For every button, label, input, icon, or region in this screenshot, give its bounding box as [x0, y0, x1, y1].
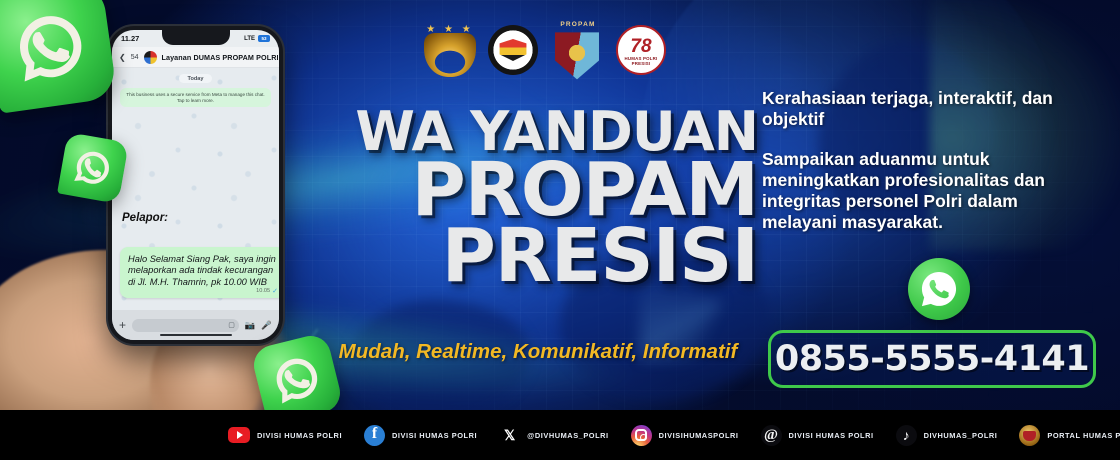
home-indicator	[160, 334, 232, 337]
business-notice[interactable]: This business uses a secure service from…	[120, 88, 271, 107]
right-copy-paragraph-2: Sampaikan aduanmu untuk meningkatkan pro…	[762, 149, 1092, 233]
propam-shield-emblem-icon: PROPAM	[552, 22, 604, 78]
social-label: @DIVHUMAS_POLRI	[527, 431, 609, 440]
whatsapp-3d-logo-small	[57, 132, 129, 204]
social-link-youtube[interactable]: DIVISI HUMAS POLRI	[228, 427, 342, 443]
message-input-field[interactable]: ▢	[132, 319, 239, 332]
whatsapp-3d-shape	[57, 132, 129, 204]
phone-mockup: 11.27 LTE 53 ❮ 54 Layanan DUMAS PROPAM P…	[108, 26, 283, 344]
headline-block: WA YANDUAN PROPAM PRESISI	[318, 108, 758, 289]
microphone-icon[interactable]: 🎤	[261, 320, 272, 331]
anniversary-78-emblem-icon: 78 HUMAS POLRI PRESISI	[616, 22, 668, 78]
social-label: DIVISI HUMAS POLRI	[392, 431, 477, 440]
social-link-threads[interactable]: @ DIVISI HUMAS POLRI	[761, 425, 874, 446]
social-link-portal[interactable]: PORTAL HUMAS PRESISI	[1019, 425, 1120, 446]
anniversary-number: 78	[618, 36, 664, 58]
whatsapp-3d-shape	[0, 0, 118, 114]
headline-tagline: Mudah, Realtime, Komunikatif, Informatif	[318, 340, 758, 364]
threads-icon: @	[761, 425, 782, 446]
polri-badge-shape	[424, 33, 476, 77]
read-receipt-icon: ✓	[272, 287, 278, 295]
promotional-banner: ★ ★ ★ PROPAM 78 HUMAS POLRI PRESISI WA Y…	[0, 0, 1120, 460]
anniversary-badge-shape: 78 HUMAS POLRI PRESISI	[616, 25, 666, 75]
polri-star-badge-icon: ★ ★ ★	[424, 22, 476, 78]
whatsapp-icon[interactable]	[908, 258, 970, 320]
message-input-bar[interactable]: + ▢ 📷 🎤	[112, 310, 279, 340]
tiktok-icon: ♪	[896, 425, 917, 446]
whatsapp-3d-logo-large	[0, 0, 118, 114]
social-label: DIVISI HUMAS POLRI	[257, 431, 342, 440]
sticker-icon[interactable]: ▢	[228, 321, 235, 329]
instagram-icon	[631, 425, 652, 446]
chat-message-text: Halo Selamat Siang Pak, saya ingin melap…	[128, 254, 277, 288]
status-time: 11.27	[121, 34, 139, 43]
social-link-tiktok[interactable]: ♪ DIVHUMAS_POLRI	[896, 425, 998, 446]
right-copy-paragraph-1: Kerahasiaan terjaga, interaktif, dan obj…	[762, 88, 1092, 130]
social-link-x[interactable]: 𝕏 @DIVHUMAS_POLRI	[499, 425, 609, 446]
x-twitter-icon: 𝕏	[499, 425, 520, 446]
social-label: DIVHUMAS_POLRI	[924, 431, 998, 440]
chevron-left-icon[interactable]: ❮	[119, 53, 126, 62]
anniversary-label: HUMAS POLRI PRESISI	[618, 56, 664, 66]
polri-logo-icon	[1019, 425, 1040, 446]
battery-icon: 53	[258, 35, 270, 42]
facebook-icon: f	[364, 425, 385, 446]
propam-shield-shape	[552, 27, 602, 81]
whatsapp-glyph	[918, 268, 960, 310]
message-meta: 10.05 ✓	[256, 287, 278, 295]
social-link-instagram[interactable]: DIVISIHUMASPOLRI	[631, 425, 739, 446]
social-links-row: DIVISI HUMAS POLRI f DIVISI HUMAS POLRI …	[0, 410, 1120, 460]
phone-screen: 11.27 LTE 53 ❮ 54 Layanan DUMAS PROPAM P…	[112, 30, 279, 340]
camera-icon[interactable]: 📷	[245, 320, 256, 331]
social-link-facebook[interactable]: f DIVISI HUMAS POLRI	[364, 425, 477, 446]
phone-number-box[interactable]: 0855-5555-4141	[768, 330, 1096, 388]
chat-header[interactable]: ❮ 54 Layanan DUMAS PROPAM POLRI	[112, 47, 279, 68]
phone-notch	[162, 30, 230, 45]
plus-icon[interactable]: +	[119, 318, 126, 332]
propam-emblem-label: PROPAM	[552, 21, 604, 28]
whatsapp-glyph	[70, 145, 116, 191]
chat-title: Layanan DUMAS PROPAM POLRI	[162, 53, 279, 62]
phone-number: 0855-5555-4141	[775, 339, 1089, 379]
chat-body: Today This business uses a secure servic…	[112, 68, 279, 310]
social-label: DIVISIHUMASPOLRI	[659, 431, 739, 440]
sender-label: Pelapor:	[122, 212, 168, 224]
message-time: 10.05	[256, 288, 270, 294]
youtube-icon	[228, 427, 250, 443]
day-divider: Today	[179, 74, 211, 83]
right-copy-block: Kerahasiaan terjaga, interaktif, dan obj…	[762, 88, 1092, 233]
avatar	[144, 51, 157, 64]
emblem-row: ★ ★ ★ PROPAM 78 HUMAS POLRI PRESISI	[424, 22, 668, 78]
humas-polri-emblem-icon	[488, 22, 540, 78]
social-label: PORTAL HUMAS PRESISI	[1047, 431, 1120, 440]
chat-message-bubble: Halo Selamat Siang Pak, saya ingin melap…	[120, 247, 279, 298]
status-indicators: LTE 53	[244, 35, 270, 42]
network-label: LTE	[244, 36, 255, 42]
whatsapp-glyph	[8, 4, 93, 89]
unread-count: 54	[131, 54, 139, 61]
headline-line-3: PRESISI	[318, 224, 758, 289]
humas-emblem-shape	[488, 25, 538, 75]
social-label: DIVISI HUMAS POLRI	[789, 431, 874, 440]
